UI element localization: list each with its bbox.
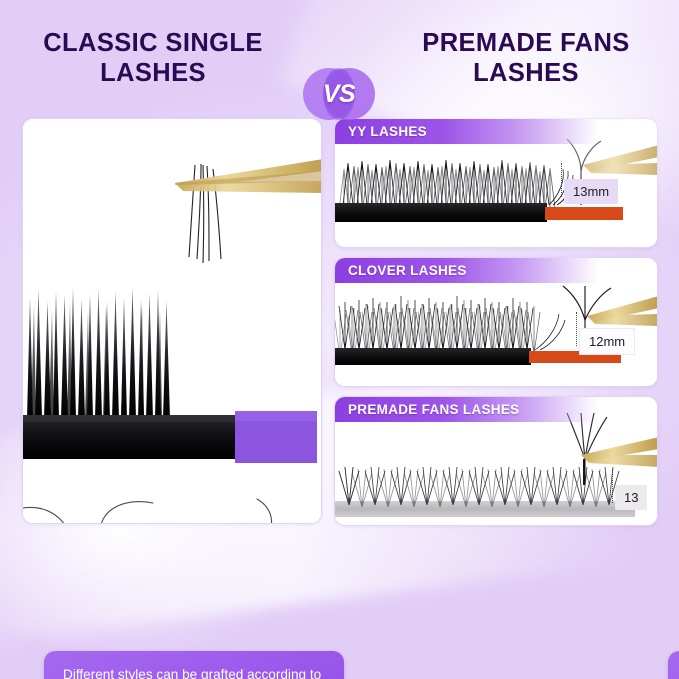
yy-lashes-label: YY LASHES xyxy=(335,124,427,139)
right-column-title: PREMADE FANS LASHES xyxy=(381,28,671,88)
premade-measurement-value: 13 xyxy=(615,485,647,510)
clover-measurement-tag: 12mm xyxy=(579,328,635,355)
held-premade-fan xyxy=(567,413,607,485)
measurement-tick xyxy=(612,469,613,503)
tweezers-icon xyxy=(175,159,321,193)
clover-measurement-value: 12mm xyxy=(579,328,635,355)
yy-lashes-banner: YY LASHES xyxy=(335,119,657,144)
vs-label: VS xyxy=(303,68,375,120)
fan-base-strip xyxy=(335,501,635,517)
orange-tape xyxy=(545,207,623,220)
classic-lashes-photo xyxy=(23,119,321,523)
classic-lash-tray xyxy=(23,287,317,463)
left-caption: Different styles can be grafted accordin… xyxy=(44,651,344,679)
left-column: Different styles can be grafted accordin… xyxy=(22,118,322,524)
right-column: 13mm YY LASHES xyxy=(334,118,658,535)
clover-lashes-panel: 12mm CLOVER LASHES xyxy=(334,257,658,387)
premade-fans-label: PREMADE FANS LASHES xyxy=(335,402,519,417)
header: CLASSIC SINGLE LASHES VS PREMADE FANS LA… xyxy=(0,28,679,110)
right-caption: Premade fans lash extensions are fashion… xyxy=(668,651,679,679)
vs-badge: VS xyxy=(303,68,375,120)
left-column-title: CLASSIC SINGLE LASHES xyxy=(8,28,298,88)
clover-lashes-label: CLOVER LASHES xyxy=(335,263,467,278)
measurement-tick xyxy=(561,163,562,197)
tweezers-icon xyxy=(583,145,657,175)
classic-single-lashes-card xyxy=(22,118,322,524)
yy-measurement-value: 13mm xyxy=(564,179,618,204)
clover-lashes-banner: CLOVER LASHES xyxy=(335,258,657,283)
yy-measurement-tag: 13mm xyxy=(564,179,618,204)
premade-fans-banner: PREMADE FANS LASHES xyxy=(335,397,657,422)
premade-fans-lashes-panel: 13 PREMADE FANS LASHES xyxy=(334,396,658,526)
tweezers-icon xyxy=(587,296,657,326)
classic-lashes-illustration xyxy=(23,119,321,523)
single-lashes-scatter xyxy=(23,499,319,523)
premade-measurement-tag: 13 xyxy=(615,485,647,510)
tweezers-icon xyxy=(581,437,657,467)
infographic-canvas: CLASSIC SINGLE LASHES VS PREMADE FANS LA… xyxy=(0,0,679,679)
measurement-tick xyxy=(576,312,577,346)
yy-lashes-panel: 13mm YY LASHES xyxy=(334,118,658,248)
